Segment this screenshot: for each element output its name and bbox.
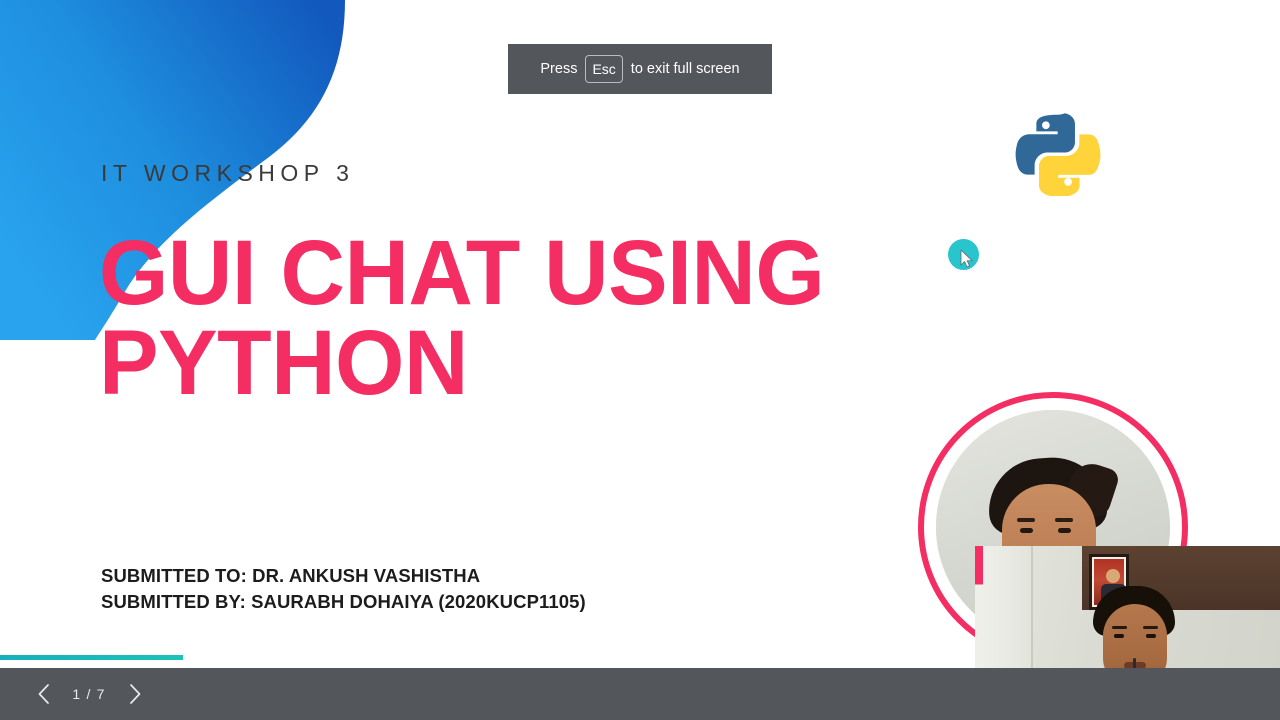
webcam-picture-head [1106,569,1120,583]
python-logo-icon [1015,110,1101,196]
webcam-eye-left [1114,634,1124,638]
chevron-left-icon [37,684,50,704]
webcam-eye-right [1146,634,1156,638]
presentation-viewer: IT WORKSHOP 3 GUI CHAT USING PYTHON SUBM… [0,0,1280,720]
webcam-brow-left [1112,626,1127,629]
slide-page-counter: 1 / 7 [68,686,110,702]
slide-progress-track [0,655,1280,660]
slide-title: GUI CHAT USING PYTHON [99,228,953,408]
slide-eyebrow: IT WORKSHOP 3 [101,160,354,187]
esc-key-badge: Esc [585,55,622,83]
previous-slide-button[interactable] [26,677,60,711]
credit-submitted-by: SUBMITTED BY: SAURABH DOHAIYA (2020KUCP1… [101,589,586,615]
next-slide-button[interactable] [118,677,152,711]
slide-progress-fill [0,655,183,660]
slide-credits: SUBMITTED TO: DR. ANKUSH VASHISTHA SUBMI… [101,563,586,616]
chevron-right-icon [129,684,142,704]
hint-prefix-label: Press [540,61,577,77]
credit-submitted-to: SUBMITTED TO: DR. ANKUSH VASHISTHA [101,563,586,589]
slide-navigation-bar: 1 / 7 [0,668,1280,720]
fullscreen-hint-toast: Press Esc to exit full screen [508,44,772,94]
hint-suffix-label: to exit full screen [631,61,740,77]
webcam-brow-right [1143,626,1158,629]
mouse-pointer-icon [960,250,974,268]
